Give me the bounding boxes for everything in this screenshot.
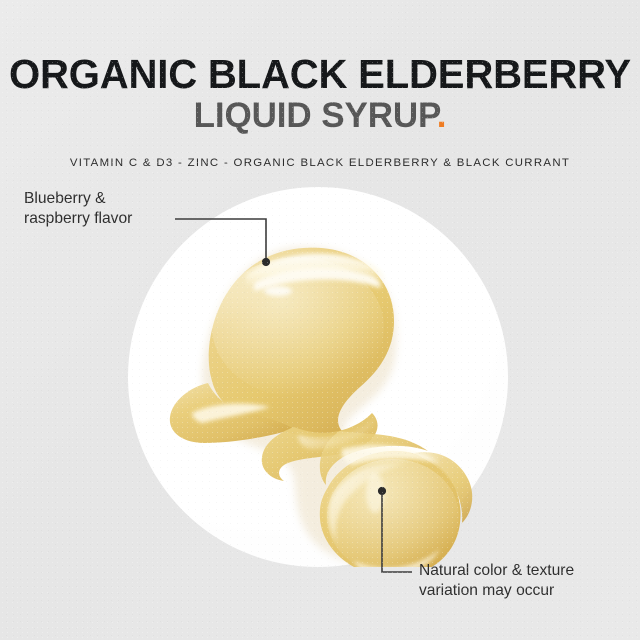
callout-variation: Natural color & texture variation may oc… xyxy=(419,561,574,600)
page-title-line2: LIQUID SYRUP. xyxy=(0,94,640,134)
infographic-canvas: ORGANIC BLACK ELDERBERRY LIQUID SYRUP. V… xyxy=(0,0,640,640)
callout-variation-line1: Natural color & texture xyxy=(419,561,574,581)
header: ORGANIC BLACK ELDERBERRY LIQUID SYRUP. V… xyxy=(0,0,640,170)
callout-flavor: Blueberry & raspberry flavor xyxy=(24,189,132,228)
callout-flavor-line1: Blueberry & xyxy=(24,189,132,209)
callout-variation-line2: variation may occur xyxy=(419,581,574,601)
page-subtitle: VITAMIN C & D3 - ZINC - ORGANIC BLACK EL… xyxy=(0,134,640,170)
callout-flavor-line2: raspberry flavor xyxy=(24,209,132,229)
page-title-line2-text: LIQUID SYRUP xyxy=(194,96,437,135)
title-accent-dot: . xyxy=(437,96,447,135)
page-title-line1: ORGANIC BLACK ELDERBERRY xyxy=(3,0,637,94)
product-photo-circle xyxy=(128,187,508,567)
